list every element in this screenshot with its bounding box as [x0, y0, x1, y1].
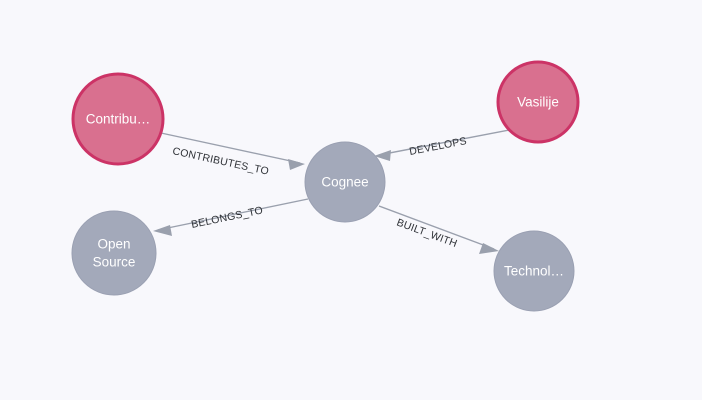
graph-canvas[interactable]: CONTRIBUTES_TO DEVELOPS BELONGS_TO BUILT…: [0, 0, 702, 400]
node-vasilije[interactable]: Vasilije: [498, 62, 578, 142]
node-label-cognee: Cognee: [321, 175, 368, 190]
node-contributor[interactable]: Contribu…: [73, 74, 163, 164]
edge-belongs-to[interactable]: BELONGS_TO: [153, 199, 308, 236]
node-technology[interactable]: Technol…: [494, 231, 574, 311]
edge-label-built-with: BUILT_WITH: [395, 217, 459, 251]
edge-arrowhead-contributes-to: [288, 159, 305, 170]
edge-develops[interactable]: DEVELOPS: [374, 130, 509, 161]
node-circle-open-source[interactable]: [72, 211, 156, 295]
edge-arrowhead-belongs-to: [153, 225, 172, 236]
edge-contributes-to[interactable]: CONTRIBUTES_TO: [161, 133, 305, 178]
edge-label-contributes-to: CONTRIBUTES_TO: [171, 145, 270, 178]
edge-built-with[interactable]: BUILT_WITH: [379, 206, 499, 254]
node-cognee[interactable]: Cognee: [305, 142, 385, 222]
node-label-open-source-line2: Source: [93, 255, 136, 270]
node-open-source[interactable]: Open Source: [72, 211, 156, 295]
graph-svg: CONTRIBUTES_TO DEVELOPS BELONGS_TO BUILT…: [0, 0, 702, 400]
edge-label-develops: DEVELOPS: [408, 135, 467, 158]
node-label-vasilije: Vasilije: [517, 95, 559, 110]
node-label-technology: Technol…: [504, 264, 564, 279]
edge-label-belongs-to: BELONGS_TO: [190, 204, 264, 231]
node-label-open-source-line1: Open: [97, 237, 130, 252]
node-label-contributor: Contribu…: [86, 112, 151, 127]
